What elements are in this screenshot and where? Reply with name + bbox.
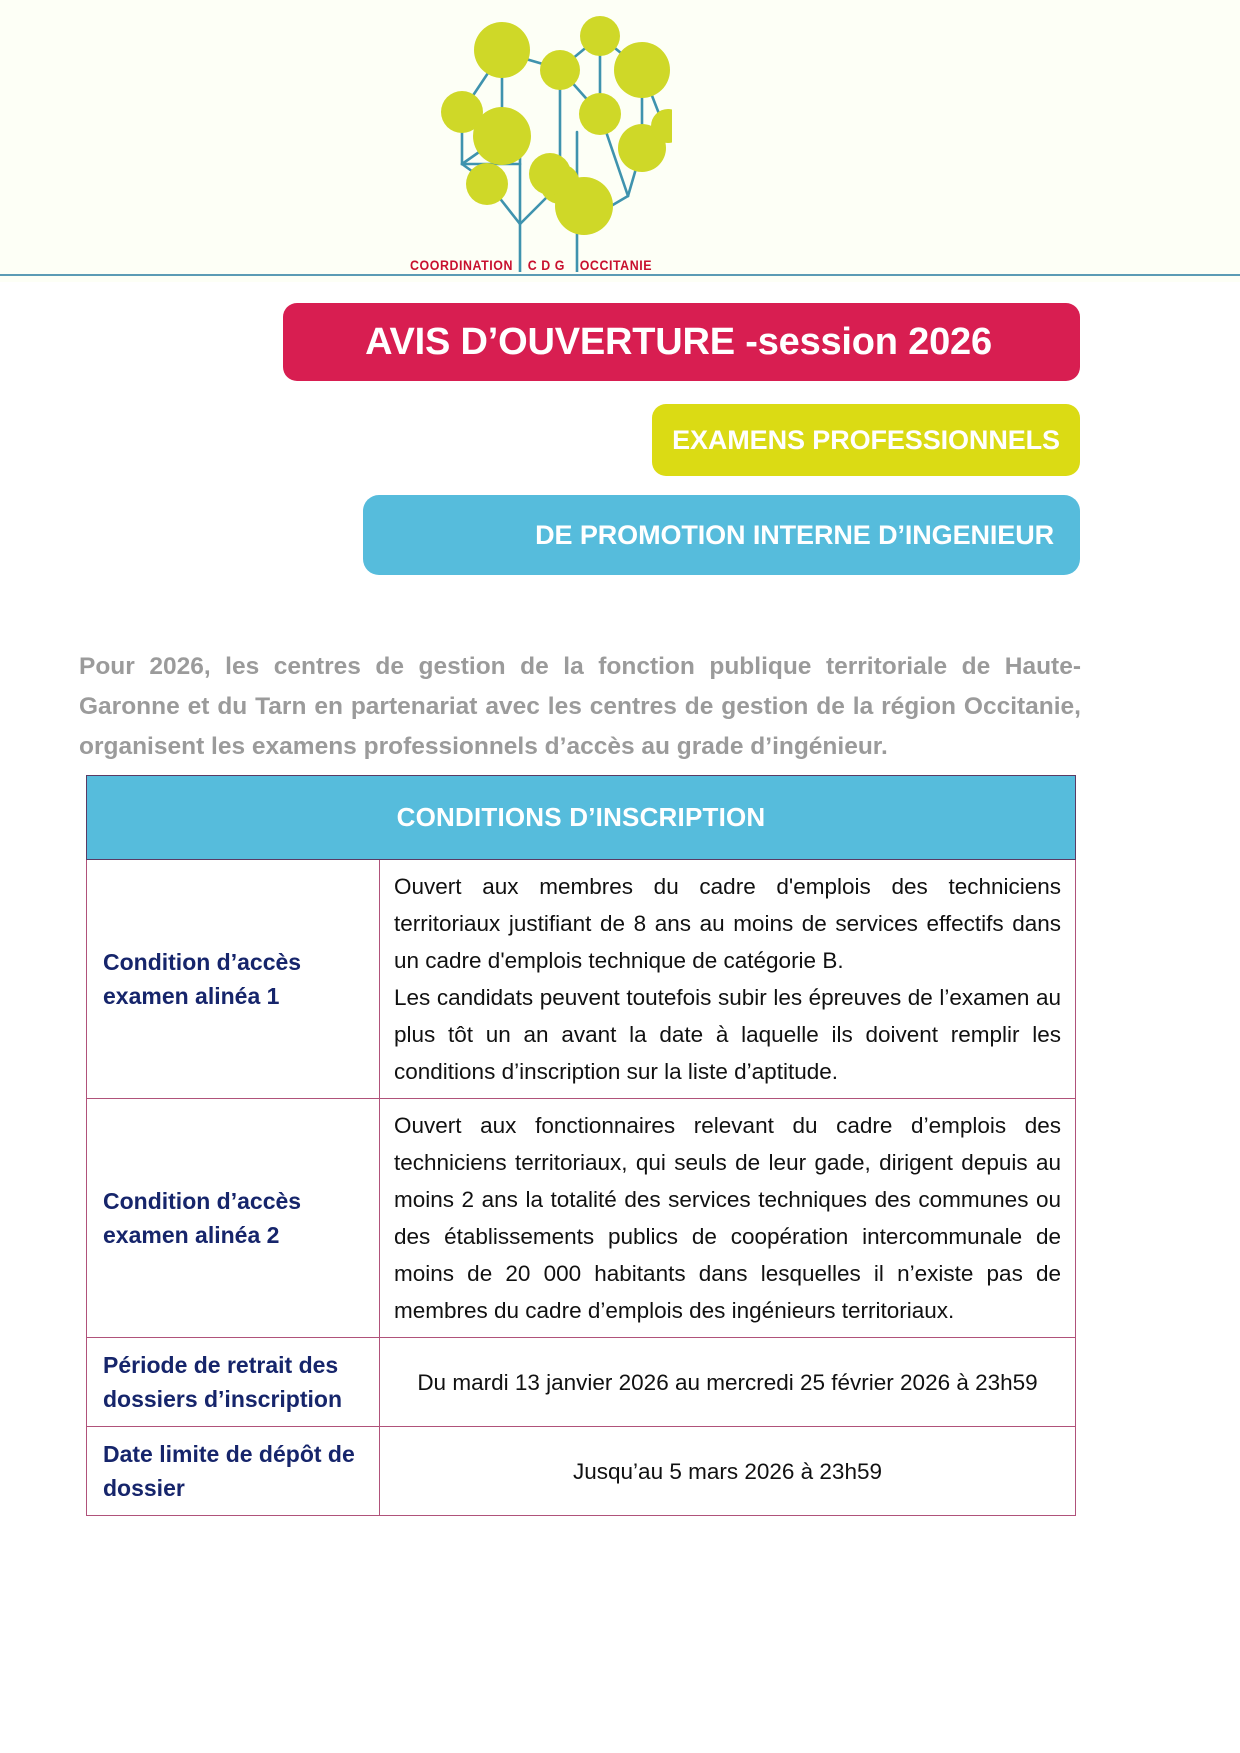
logo-area: COORDINATIONC D GOCCITANIE	[0, 0, 1240, 282]
document-page: COORDINATIONC D GOCCITANIE AVIS D’OUVERT…	[0, 0, 1240, 1753]
table-row: Période de retrait des dossiers d’inscri…	[87, 1338, 1076, 1427]
banner-examens-professionnels-label: EXAMENS PROFESSIONNELS	[672, 425, 1060, 456]
logo-caption: COORDINATIONC D GOCCITANIE	[410, 258, 649, 273]
banner-avis-ouverture: AVIS D’OUVERTURE -session 2026	[283, 303, 1080, 381]
table-header-row: CONDITIONS D’INSCRIPTION	[87, 776, 1076, 860]
conditions-table: CONDITIONS D’INSCRIPTION Condition d’acc…	[86, 775, 1076, 1516]
row-value-paragraph: Ouvert aux membres du cadre d'emplois de…	[394, 868, 1061, 979]
banner-avis-ouverture-label: AVIS D’OUVERTURE -session 2026	[365, 321, 992, 364]
table-header-title: CONDITIONS D’INSCRIPTION	[87, 776, 1076, 860]
table-row: Condition d’accès examen alinéa 2 Ouvert…	[87, 1099, 1076, 1338]
header-divider	[0, 274, 1240, 276]
row-value-condition-alinea-1: Ouvert aux membres du cadre d'emplois de…	[380, 860, 1076, 1099]
row-value-paragraph: Du mardi 13 janvier 2026 au mercredi 25 …	[394, 1364, 1061, 1401]
intro-paragraph: Pour 2026, les centres de gestion de la …	[79, 647, 1081, 767]
row-value-date-limite: Jusqu’au 5 mars 2026 à 23h59	[380, 1427, 1076, 1516]
logo-caption-occitanie: OCCITANIE	[580, 258, 652, 273]
row-value-periode-retrait: Du mardi 13 janvier 2026 au mercredi 25 …	[380, 1338, 1076, 1427]
banner-promotion-interne-label: DE PROMOTION INTERNE D’INGENIEUR	[535, 520, 1054, 551]
row-label-condition-alinea-1: Condition d’accès examen alinéa 1	[87, 860, 380, 1099]
table-row: Condition d’accès examen alinéa 1 Ouvert…	[87, 860, 1076, 1099]
row-value-paragraph: Les candidats peuvent toutefois subir le…	[394, 979, 1061, 1090]
row-value-paragraph: Ouvert aux fonctionnaires relevant du ca…	[394, 1107, 1061, 1329]
row-label-periode-retrait: Période de retrait des dossiers d’inscri…	[87, 1338, 380, 1427]
row-value-condition-alinea-2: Ouvert aux fonctionnaires relevant du ca…	[380, 1099, 1076, 1338]
row-value-paragraph: Jusqu’au 5 mars 2026 à 23h59	[394, 1453, 1061, 1490]
banner-promotion-interne: DE PROMOTION INTERNE D’INGENIEUR	[363, 495, 1080, 575]
logo-caption-cdg: C D G	[528, 258, 565, 273]
logo-caption-coordination: COORDINATION	[410, 258, 513, 273]
row-label-condition-alinea-2: Condition d’accès examen alinéa 2	[87, 1099, 380, 1338]
cdg-tree-logo-icon	[432, 14, 672, 272]
table-row: Date limite de dépôt de dossier Jusqu’au…	[87, 1427, 1076, 1516]
row-label-date-limite: Date limite de dépôt de dossier	[87, 1427, 380, 1516]
banner-examens-professionnels: EXAMENS PROFESSIONNELS	[652, 404, 1080, 476]
